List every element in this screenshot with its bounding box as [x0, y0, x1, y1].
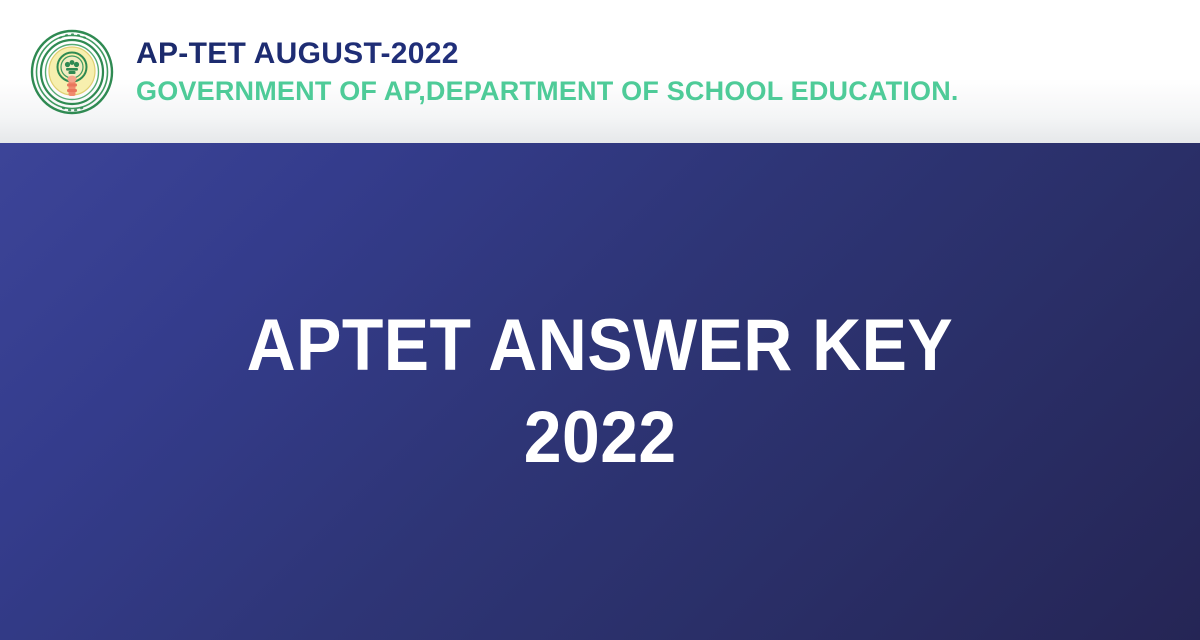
hero-banner: APTET ANSWER KEY 2022	[0, 143, 1200, 640]
page-root: AP-TET AUGUST-2022 GOVERNMENT OF AP,DEPA…	[0, 0, 1200, 640]
hero-headline-line-1: APTET ANSWER KEY	[247, 301, 953, 390]
hero-headline-line-2: 2022	[524, 393, 677, 482]
andhra-pradesh-government-emblem-icon	[26, 25, 118, 121]
header-subtitle: GOVERNMENT OF AP,DEPARTMENT OF SCHOOL ED…	[136, 75, 959, 109]
header-text-block: AP-TET AUGUST-2022 GOVERNMENT OF AP,DEPA…	[136, 36, 959, 109]
site-header: AP-TET AUGUST-2022 GOVERNMENT OF AP,DEPA…	[0, 0, 1200, 143]
header-title: AP-TET AUGUST-2022	[136, 36, 959, 71]
